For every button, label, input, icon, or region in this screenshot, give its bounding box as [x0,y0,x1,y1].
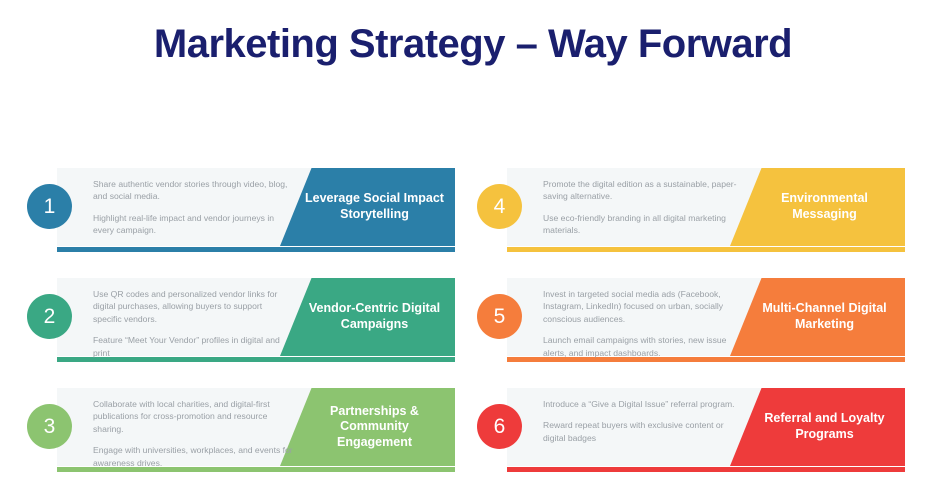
card-bullet: Feature “Meet Your Vendor” profiles in d… [93,334,293,359]
slide-canvas: Marketing Strategy – Way Forward Leverag… [0,0,946,503]
card-heading-3: Partnerships & Community Engagement [280,404,455,451]
strategy-card-4[interactable]: Environmental Messaging 4 Promote the di… [507,168,905,252]
card-bullets-4: Promote the digital edition as a sustain… [543,178,743,237]
card-bullets-5: Invest in targeted social media ads (Fac… [543,288,743,359]
card-bullet: Use QR codes and personalized vendor lin… [93,288,293,325]
card-bullet: Promote the digital edition as a sustain… [543,178,743,203]
card-bullet: Collaborate with local charities, and di… [93,398,293,435]
card-bullet: Invest in targeted social media ads (Fac… [543,288,743,325]
card-bullets-1: Share authentic vendor stories through v… [93,178,293,237]
card-bullet: Highlight real-life impact and vendor jo… [93,212,293,237]
card-bullet: Launch email campaigns with stories, new… [543,334,743,359]
card-number-badge-6: 6 [477,404,522,449]
strategy-row: Partnerships & Community Engagement 3 Co… [0,388,946,498]
card-bottom-bar-6 [507,467,905,472]
card-bullet: Introduce a “Give a Digital Issue” refer… [543,398,743,410]
card-number-badge-4: 4 [477,184,522,229]
strategy-card-grid: Leverage Social Impact Storytelling 1 Sh… [0,168,946,498]
strategy-card-3[interactable]: Partnerships & Community Engagement 3 Co… [57,388,455,472]
card-bullet: Use eco-friendly branding in all digital… [543,212,743,237]
card-bottom-bar-4 [507,247,905,252]
card-bullet: Share authentic vendor stories through v… [93,178,293,203]
strategy-row: Leverage Social Impact Storytelling 1 Sh… [0,168,946,278]
strategy-card-1[interactable]: Leverage Social Impact Storytelling 1 Sh… [57,168,455,252]
card-heading-2: Vendor-Centric Digital Campaigns [280,301,455,332]
strategy-row: Vendor-Centric Digital Campaigns 2 Use Q… [0,278,946,388]
card-heading-6: Referral and Loyalty Programs [730,411,905,442]
page-title: Marketing Strategy – Way Forward [0,22,946,66]
card-number-badge-3: 3 [27,404,72,449]
card-heading-1: Leverage Social Impact Storytelling [280,191,455,222]
card-bullet: Engage with universities, workplaces, an… [93,444,293,469]
card-bottom-bar-1 [57,247,455,252]
strategy-card-6[interactable]: Referral and Loyalty Programs 6 Introduc… [507,388,905,472]
card-number-badge-2: 2 [27,294,72,339]
card-number-badge-5: 5 [477,294,522,339]
card-bullets-3: Collaborate with local charities, and di… [93,398,293,469]
card-heading-5: Multi-Channel Digital Marketing [730,301,905,332]
card-bullets-2: Use QR codes and personalized vendor lin… [93,288,293,359]
card-number-badge-1: 1 [27,184,72,229]
strategy-card-2[interactable]: Vendor-Centric Digital Campaigns 2 Use Q… [57,278,455,362]
strategy-card-5[interactable]: Multi-Channel Digital Marketing 5 Invest… [507,278,905,362]
card-heading-4: Environmental Messaging [730,191,905,222]
card-bullet: Reward repeat buyers with exclusive cont… [543,419,743,444]
card-bullets-6: Introduce a “Give a Digital Issue” refer… [543,398,743,444]
